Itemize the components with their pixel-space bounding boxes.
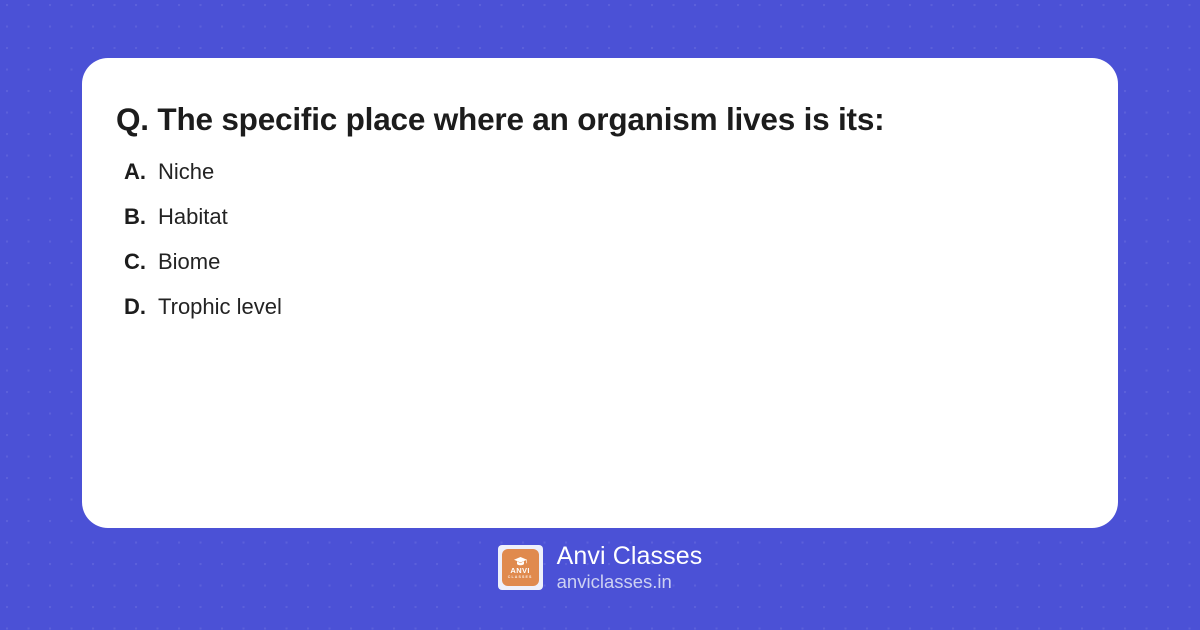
graduation-cap-icon (513, 556, 528, 566)
option-item-d[interactable]: D. Trophic level (116, 294, 1084, 339)
option-item-c[interactable]: C. Biome (116, 249, 1084, 294)
options-list: A. Niche B. Habitat C. Biome D. Trophic … (116, 159, 1084, 339)
option-letter-c: C. (124, 249, 158, 275)
brand-logo-sub: CLASSES (508, 576, 533, 580)
brand-name: Anvi Classes (557, 543, 703, 571)
option-letter-b: B. (124, 204, 158, 230)
option-letter-d: D. (124, 294, 158, 320)
brand-logo-tile: ANVI CLASSES (502, 549, 539, 586)
option-item-b[interactable]: B. Habitat (116, 204, 1084, 249)
question-title: Q. The specific place where an organism … (116, 100, 1084, 139)
brand-text-block: Anvi Classes anviclasses.in (557, 543, 703, 592)
option-text-d: Trophic level (158, 294, 282, 320)
brand-url[interactable]: anviclasses.in (557, 572, 703, 592)
option-text-b: Habitat (158, 204, 228, 230)
brand-logo: ANVI CLASSES (498, 545, 543, 590)
brand-footer: ANVI CLASSES Anvi Classes anviclasses.in (0, 543, 1200, 592)
option-text-c: Biome (158, 249, 220, 275)
brand-logo-word: ANVI (510, 567, 530, 575)
option-item-a[interactable]: A. Niche (116, 159, 1084, 204)
option-letter-a: A. (124, 159, 158, 185)
option-text-a: Niche (158, 159, 214, 185)
question-card: Q. The specific place where an organism … (82, 58, 1118, 528)
